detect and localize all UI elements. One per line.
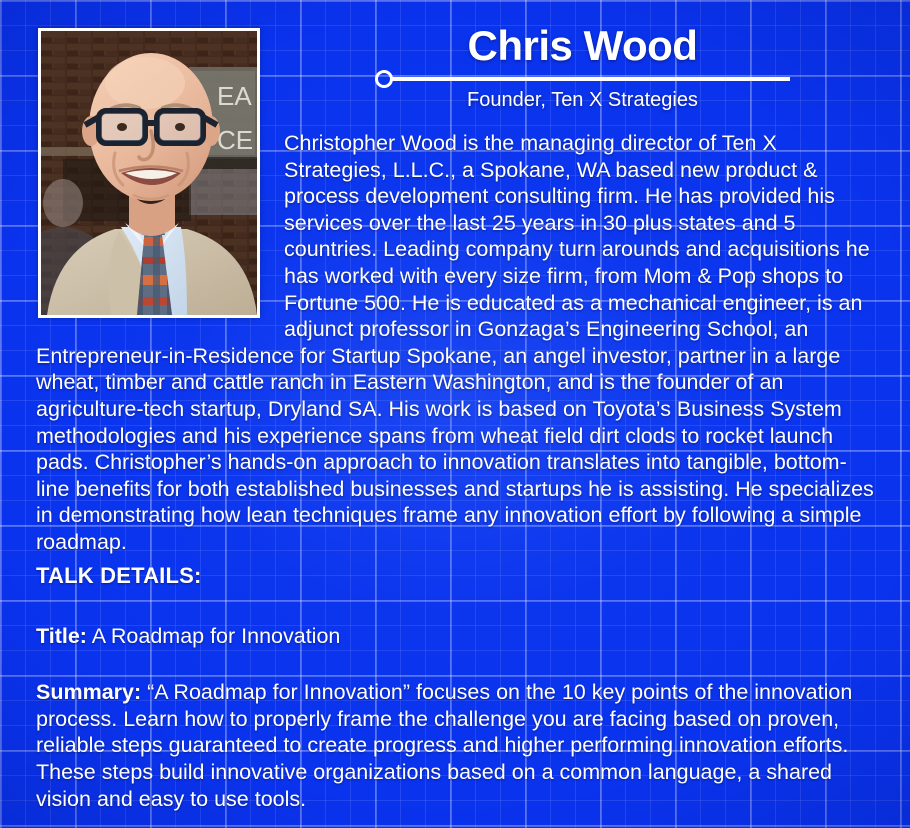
talk-summary-label: Summary: — [36, 680, 141, 704]
talk-details-section: TALK DETAILS: Title: A Roadmap for Innov… — [36, 563, 884, 812]
speaker-role: Founder, Ten X Strategies — [375, 89, 790, 112]
speaker-bio-card: EA CE — [0, 0, 910, 828]
talk-title-value: A Roadmap for Innovation — [87, 624, 340, 648]
talk-summary-line: Summary: “A Roadmap for Innovation” focu… — [36, 679, 884, 812]
talk-title-line: Title: A Roadmap for Innovation — [36, 623, 884, 650]
talk-summary-value: “A Roadmap for Innovation” focuses on th… — [36, 680, 852, 810]
svg-text:EA: EA — [217, 81, 252, 111]
speaker-header: Chris Wood Founder, Ten X Strategies — [375, 24, 875, 112]
divider-line — [391, 77, 790, 81]
talk-details-heading: TALK DETAILS: — [36, 563, 884, 590]
photo-text-wrap-spacer — [36, 130, 284, 326]
header-divider — [375, 70, 790, 88]
speaker-name: Chris Wood — [375, 24, 790, 68]
speaker-bio: Christopher Wood is the managing directo… — [36, 130, 874, 556]
talk-title-label: Title: — [36, 624, 87, 648]
card-content: EA CE — [0, 0, 910, 828]
